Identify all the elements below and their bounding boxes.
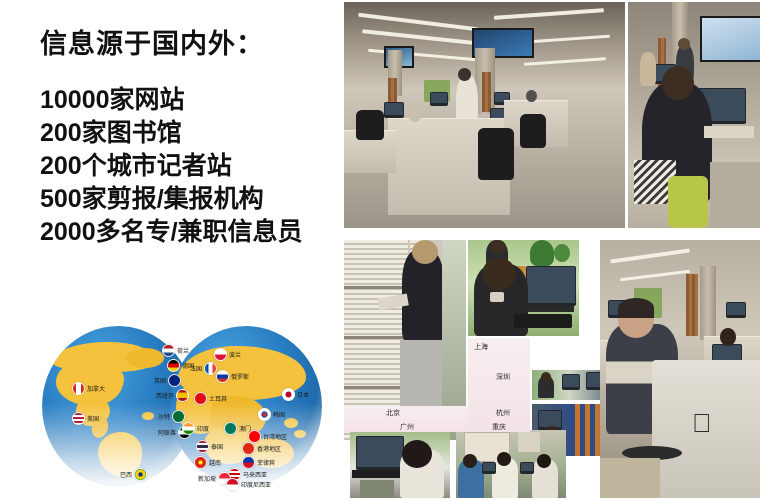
flag-uk-icon: [168, 374, 181, 387]
globe-marker-turkey: 土耳其: [194, 392, 227, 405]
laptop-icon: [356, 436, 404, 470]
monitor-icon: [526, 266, 576, 306]
globe-marker-hong-kong: 香港地区: [242, 442, 281, 455]
globe-marker-india: 印度: [182, 422, 209, 435]
flag-usa-icon: [72, 412, 85, 425]
flag-brazil-icon: [134, 468, 147, 481]
source-list: 10000家网站 200家图书馆 200个城市记者站 500家剪报/集报机构 2…: [40, 84, 303, 249]
globe-marker-label: 新加坡: [198, 474, 216, 483]
list-item: 500家剪报/集报机构: [40, 183, 303, 216]
globe-marker-label: 加拿大: [87, 384, 105, 393]
globe-marker-indonesia: 印度尼西亚: [226, 478, 271, 491]
photo-editors-at-desk: [468, 240, 579, 336]
globe-marker-spain: 西班牙: [156, 389, 189, 402]
globe-marker-label: 法国: [190, 364, 202, 373]
globe-marker-label: 泰国: [211, 442, 223, 451]
globe-marker-label: 沙特: [158, 412, 170, 421]
flag-poland-icon: [214, 348, 227, 361]
flag-south-korea-icon: [258, 408, 271, 421]
globe-marker-label: 香港地区: [257, 444, 281, 453]
photo-information-staff-row: [456, 430, 566, 498]
globe-marker-label: 波兰: [229, 350, 241, 359]
globe-marker-label: 英国: [154, 376, 166, 385]
globe-marker-uk: 英国: [154, 374, 181, 387]
globe-marker-label: 俄罗斯: [231, 372, 249, 381]
page-title: 信息源于国内外：: [40, 22, 264, 61]
globe-marker-label: 美国: [87, 414, 99, 423]
globe-marker-label: 西班牙: [156, 391, 174, 400]
flag-japan-icon: [282, 388, 295, 401]
flag-indonesia-icon: [226, 478, 239, 491]
flag-canada-icon: [72, 382, 85, 395]
globe-marker-label: 荷兰: [177, 346, 189, 355]
globe-marker-label: 台湾地区: [263, 432, 287, 441]
globe-marker-vietnam: 越南: [194, 456, 221, 469]
globe-marker-label: 土耳其: [209, 394, 227, 403]
flag-macau-icon: [224, 422, 237, 435]
wall-display-icon: [700, 16, 760, 62]
globe-marker-brazil: 巴西: [120, 468, 147, 481]
flag-germany-icon: [167, 359, 180, 372]
globe-marker-south-korea: 韩国: [258, 408, 285, 421]
globe-marker-label: 阿联酋: [158, 428, 176, 437]
city-label-chongqing: 重庆: [492, 422, 506, 432]
flag-india-icon: [182, 422, 195, 435]
slide-canvas: 信息源于国内外： 10000家网站 200家图书馆 200个城市记者站 500家…: [0, 0, 760, 500]
globe-marker-japan: 日本: [282, 388, 309, 401]
list-item: 10000家网站: [40, 84, 303, 117]
flag-russia-icon: [216, 370, 229, 383]
globe-marker-label: 越南: [209, 458, 221, 467]
flag-spain-icon: [176, 389, 189, 402]
flag-netherlands-icon: [162, 344, 175, 357]
city-label-beijing: 北京: [386, 408, 400, 418]
globe-marker-label: 菲律宾: [257, 458, 275, 467]
globe-marker-label: 日本: [297, 390, 309, 399]
apple-logo-icon: : [692, 410, 714, 436]
city-label-shenzhen: 深圳: [496, 372, 510, 382]
photo-woman-at-desk: [628, 2, 760, 228]
globe-marker-usa: 美国: [72, 412, 99, 425]
photo-student-at-laptop: [350, 430, 450, 498]
list-item: 200家图书馆: [40, 117, 303, 150]
globe-marker-label: 印度: [197, 424, 209, 433]
text-panel: 信息源于国内外： 10000家网站 200家图书馆 200个城市记者站 500家…: [0, 0, 340, 500]
flag-turkey-icon: [194, 392, 207, 405]
list-item: 2000多名专/兼职信息员: [40, 216, 303, 249]
city-label-hangzhou: 杭州: [496, 408, 510, 418]
globe-marker-canada: 加拿大: [72, 382, 105, 395]
photo-thumb-shenzhen: [532, 370, 607, 400]
photo-open-office: [344, 2, 625, 228]
globe-marker-label: 巴西: [120, 470, 132, 479]
globe-marker-netherlands: 荷兰: [162, 344, 189, 357]
globe-marker-label: 印度尼西亚: [241, 480, 271, 489]
globe-marker-russia: 俄罗斯: [216, 370, 249, 383]
flag-thailand-icon: [196, 440, 209, 453]
world-globe-graphic: 加拿大 美国 巴西 荷兰 德国 英国: [36, 326, 336, 494]
flag-hong-kong-icon: [242, 442, 255, 455]
flag-vietnam-icon: [194, 456, 207, 469]
globe-marker-macau: 澳门: [224, 422, 251, 435]
list-item: 200个城市记者站: [40, 150, 303, 183]
globe-marker-thailand: 泰国: [196, 440, 223, 453]
globe-marker-poland: 波兰: [214, 348, 241, 361]
city-label-shanghai: 上海: [474, 342, 488, 352]
globe-marker-label: 韩国: [273, 410, 285, 419]
photo-mosaic:  北京 广州 上海 深圳 杭州 重庆: [344, 2, 760, 500]
globe-marker-saudi-arabia: 沙特: [158, 410, 185, 423]
city-label-guangzhou: 广州: [400, 422, 414, 432]
photo-man-at-imac: : [600, 240, 760, 498]
globe-marker-france: 法国: [190, 362, 217, 375]
